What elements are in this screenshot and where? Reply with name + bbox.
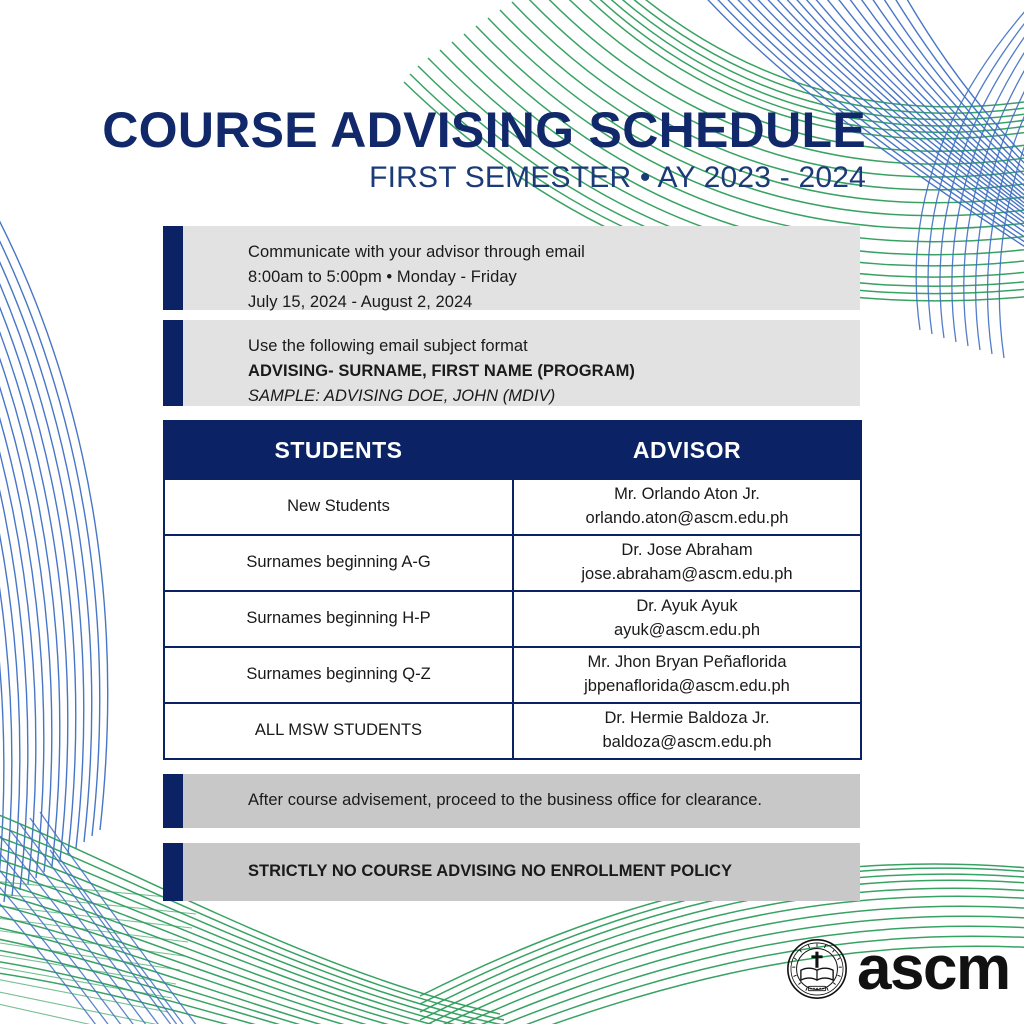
advisor-name: Mr. Jhon Bryan Peñaflorida xyxy=(514,651,860,675)
table-row: New Students Mr. Orlando Aton Jr. orland… xyxy=(164,479,861,535)
panel-accent-bar xyxy=(163,843,183,901)
cell-advisor: Mr. Orlando Aton Jr. orlando.aton@ascm.e… xyxy=(513,479,861,535)
cell-students: New Students xyxy=(164,479,513,535)
cell-advisor: Dr. Jose Abraham jose.abraham@ascm.edu.p… xyxy=(513,535,861,591)
panel-accent-bar xyxy=(163,774,183,828)
format-intro-text: Use the following email subject format xyxy=(248,334,860,359)
cell-students: ALL MSW STUDENTS xyxy=(164,703,513,759)
ascm-logo: ascm xyxy=(786,938,1010,1000)
after-advisement-panel: After course advisement, proceed to the … xyxy=(163,774,860,828)
schedule-info-panel: Communicate with your advisor through em… xyxy=(163,226,860,310)
after-advisement-text: After course advisement, proceed to the … xyxy=(248,788,762,813)
cell-students: Surnames beginning A-G xyxy=(164,535,513,591)
column-header-advisor: ADVISOR xyxy=(513,421,861,479)
email-format-panel: Use the following email subject format A… xyxy=(163,320,860,406)
advisor-name: Mr. Orlando Aton Jr. xyxy=(514,483,860,507)
advisor-email[interactable]: baldoza@ascm.edu.ph xyxy=(514,731,860,755)
panel-body: After course advisement, proceed to the … xyxy=(183,774,860,828)
table-header-row: STUDENTS ADVISOR xyxy=(164,421,861,479)
table-row: Surnames beginning A-G Dr. Jose Abraham … xyxy=(164,535,861,591)
advisor-email[interactable]: jose.abraham@ascm.edu.ph xyxy=(514,563,860,587)
panel-body: STRICTLY NO COURSE ADVISING NO ENROLLMEN… xyxy=(183,843,860,901)
page-header: COURSE ADVISING SCHEDULE FIRST SEMESTER … xyxy=(0,104,866,195)
cell-advisor: Mr. Jhon Bryan Peñaflorida jbpenaflorida… xyxy=(513,647,861,703)
advisor-email[interactable]: jbpenaflorida@ascm.edu.ph xyxy=(514,675,860,699)
cell-advisor: Dr. Hermie Baldoza Jr. baldoza@ascm.edu.… xyxy=(513,703,861,759)
schedule-line: 8:00am to 5:00pm • Monday - Friday xyxy=(248,265,860,290)
cell-students: Surnames beginning Q-Z xyxy=(164,647,513,703)
format-sample-text: SAMPLE: ADVISING DOE, JOHN (MDIV) xyxy=(248,384,860,409)
ascm-wordmark: ascm xyxy=(857,944,1010,994)
poster-page: COURSE ADVISING SCHEDULE FIRST SEMESTER … xyxy=(0,0,1024,1024)
policy-panel: STRICTLY NO COURSE ADVISING NO ENROLLMEN… xyxy=(163,843,860,901)
panel-accent-bar xyxy=(163,226,183,310)
advisor-name: Dr. Hermie Baldoza Jr. xyxy=(514,707,860,731)
page-subtitle: FIRST SEMESTER • AY 2023 - 2024 xyxy=(0,161,866,195)
advisor-email[interactable]: orlando.aton@ascm.edu.ph xyxy=(514,507,860,531)
column-header-students: STUDENTS xyxy=(164,421,513,479)
advisor-schedule-table: STUDENTS ADVISOR New Students Mr. Orland… xyxy=(163,420,862,760)
advisor-email[interactable]: ayuk@ascm.edu.ph xyxy=(514,619,860,643)
panel-accent-bar xyxy=(163,320,183,406)
table-row: ALL MSW STUDENTS Dr. Hermie Baldoza Jr. … xyxy=(164,703,861,759)
page-title: COURSE ADVISING SCHEDULE xyxy=(0,104,866,156)
cell-students: Surnames beginning H-P xyxy=(164,591,513,647)
table-row: Surnames beginning H-P Dr. Ayuk Ayuk ayu… xyxy=(164,591,861,647)
university-seal-icon xyxy=(786,938,848,1000)
panel-body: Communicate with your advisor through em… xyxy=(183,226,860,310)
panel-body: Use the following email subject format A… xyxy=(183,320,860,406)
schedule-line: July 15, 2024 - August 2, 2024 xyxy=(248,290,860,315)
advisor-name: Dr. Ayuk Ayuk xyxy=(514,595,860,619)
format-pattern-text: ADVISING- SURNAME, FIRST NAME (PROGRAM) xyxy=(248,359,860,384)
schedule-line: Communicate with your advisor through em… xyxy=(248,240,860,265)
cell-advisor: Dr. Ayuk Ayuk ayuk@ascm.edu.ph xyxy=(513,591,861,647)
advisor-name: Dr. Jose Abraham xyxy=(514,539,860,563)
policy-text: STRICTLY NO COURSE ADVISING NO ENROLLMEN… xyxy=(248,859,732,884)
table-row: Surnames beginning Q-Z Mr. Jhon Bryan Pe… xyxy=(164,647,861,703)
